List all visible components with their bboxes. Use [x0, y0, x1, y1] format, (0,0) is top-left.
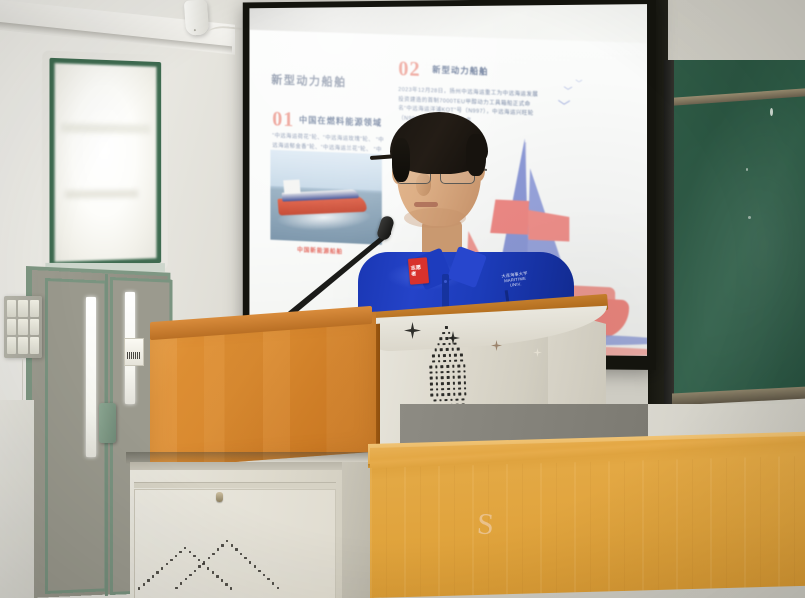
grille-hole: [464, 393, 467, 396]
cabinet-perforation: [272, 582, 274, 584]
desk-wood-grain: [370, 456, 805, 598]
slide-section-number-02: 02: [398, 56, 420, 81]
cabinet-perforation: [138, 587, 140, 589]
cabinet-perforation: [207, 567, 209, 569]
chalkboard-surface: [674, 60, 805, 396]
grille-hole: [464, 387, 467, 390]
switch-8[interactable]: [18, 337, 27, 354]
grille-hole: [449, 359, 452, 362]
cabinet-perforation: [194, 570, 196, 572]
cabinet-perforation: [170, 559, 172, 561]
cabinet-perforation: [152, 575, 154, 577]
grille-hole: [450, 399, 453, 402]
cabinet-perforation: [161, 567, 163, 569]
grille-hole: [447, 376, 450, 379]
cabinet-perforation: [147, 579, 149, 581]
grille-hole: [454, 359, 457, 362]
chalk-mark: [746, 168, 748, 171]
podium-cabinet-door[interactable]: [134, 489, 336, 598]
cabinet-perforation: [184, 547, 186, 549]
door-handle[interactable]: [99, 403, 116, 443]
switch-3[interactable]: [30, 300, 39, 317]
switch-7[interactable]: [7, 337, 16, 354]
cabinet-perforation: [180, 582, 182, 584]
left-wall-lower: [0, 400, 34, 598]
grille-hole: [441, 377, 444, 380]
cabinet-perforation: [217, 548, 219, 550]
slide-photo-caption: 中国新能源船舶: [297, 245, 343, 256]
grille-hole: [453, 393, 456, 396]
cabinet-perforation: [208, 557, 210, 559]
asset-label: [124, 338, 144, 366]
grille-hole: [464, 381, 467, 384]
speaker-person: 志愿 者 大连海事大学 MARITIME UNIV.: [366, 112, 566, 327]
grille-hole: [446, 371, 449, 374]
grille-hole: [443, 360, 446, 363]
grille-hole: [454, 342, 457, 345]
cabinet-perforation: [277, 587, 279, 589]
grille-hole: [442, 393, 445, 396]
cabinet-perforation: [221, 544, 223, 546]
cabinet-perforation: [231, 544, 233, 546]
cabinet-perforation: [166, 563, 168, 565]
cabinet-perforation: [267, 578, 269, 580]
cabinet-lock-icon[interactable]: [216, 492, 223, 502]
cabinet-perforation: [226, 540, 228, 542]
cabinet-perforation: [235, 548, 237, 550]
grille-hole: [445, 399, 448, 402]
grille-hole: [456, 398, 459, 401]
cabinet-perforation: [244, 557, 246, 559]
cabinet-perforation: [212, 553, 214, 555]
wall-speaker-icon: [184, 0, 209, 36]
slide-title: 新型动力船舶: [271, 72, 346, 90]
switch-5[interactable]: [18, 319, 27, 336]
chin-shading: [404, 208, 466, 228]
grille-hole: [458, 370, 461, 373]
cabinet-perforation: [185, 578, 187, 580]
grille-hole: [458, 382, 461, 385]
grille-hole: [460, 353, 463, 356]
grille-hole: [438, 360, 441, 363]
grille-hole: [430, 388, 433, 391]
grille-hole: [443, 354, 446, 357]
grille-hole: [440, 349, 443, 352]
grille-hole: [437, 354, 440, 357]
grille-hole: [434, 349, 437, 352]
slide-section-number-01: 01: [272, 107, 294, 132]
grille-hole: [441, 365, 444, 368]
switch-cord: [22, 358, 23, 406]
podium-cabinet-rail: [134, 482, 336, 488]
grille-hole: [452, 371, 455, 374]
cabinet-perforation: [221, 579, 223, 581]
grille-hole: [430, 377, 433, 380]
grille-hole: [432, 360, 435, 363]
grille-hole: [463, 365, 466, 368]
shirt-button: [444, 280, 447, 283]
cabinet-perforation: [179, 551, 181, 553]
chalk-mark: [748, 216, 751, 219]
grille-hole: [458, 376, 461, 379]
cabinet-perforation: [143, 583, 145, 585]
grille-hole: [457, 365, 460, 368]
grille-hole: [432, 354, 435, 357]
cabinet-perforation: [189, 574, 191, 576]
grille-hole: [460, 359, 463, 362]
grille-hole: [445, 326, 448, 329]
cabinet-perforation: [258, 570, 260, 572]
grille-hole: [430, 394, 433, 397]
switch-9[interactable]: [30, 337, 39, 354]
grille-hole: [447, 393, 450, 396]
chest-badge-text: 志愿 者: [410, 259, 427, 282]
grille-hole: [453, 387, 456, 390]
grille-hole: [449, 354, 452, 357]
seagull-icon: ﹀: [575, 79, 582, 89]
grille-hole: [461, 398, 464, 401]
grille-hole: [447, 388, 450, 391]
hair-side-right: [466, 134, 486, 176]
switch-6[interactable]: [30, 319, 39, 336]
slide-section-heading-02: 新型动力船舶: [432, 64, 488, 78]
grille-hole: [451, 348, 454, 351]
grille-hole: [445, 337, 448, 340]
grille-hole: [447, 382, 450, 385]
grille-hole: [446, 365, 449, 368]
grille-hole: [435, 371, 438, 374]
photograph-scene: 新型动力船舶 01 中国在燃料能源领域 “中远海运荷花”轮、“中远海运玫瑰”轮、…: [0, 0, 805, 598]
grille-hole: [443, 343, 446, 346]
cabinet-perforation: [203, 561, 205, 563]
door-leaf-left[interactable]: [45, 278, 107, 594]
grille-hole: [433, 399, 436, 402]
ship-superstructure: [283, 180, 300, 194]
grille-hole: [452, 376, 455, 379]
grille-hole: [429, 366, 432, 369]
grille-hole: [430, 371, 433, 374]
grille-hole: [442, 332, 445, 335]
grille-hole: [436, 388, 439, 391]
cabinet-perforation: [263, 574, 265, 576]
grille-hole: [448, 331, 451, 334]
cabinet-perforation: [193, 555, 195, 557]
light-switch-panel[interactable]: [4, 296, 42, 358]
window: [49, 58, 161, 267]
cabinet-perforation: [198, 565, 200, 567]
cabinet-perforation: [254, 565, 256, 567]
chalk-mark: [770, 108, 773, 116]
grille-hole: [437, 343, 440, 346]
grille-hole: [436, 393, 439, 396]
grille-hole: [446, 348, 449, 351]
grille-hole: [452, 365, 455, 368]
cabinet-perforation: [198, 559, 200, 561]
grille-hole: [452, 382, 455, 385]
chest-badge: 志愿 者: [408, 257, 429, 285]
door-viewport-left: [86, 297, 96, 457]
cabinet-perforation: [212, 571, 214, 573]
cabinet-perforation: [175, 555, 177, 557]
chalkboard: [664, 60, 805, 410]
grille-hole: [458, 387, 461, 390]
grille-hole: [463, 370, 466, 373]
switch-2[interactable]: [18, 300, 27, 317]
desk-mark: S: [476, 507, 500, 544]
grille-hole: [435, 366, 438, 369]
grille-hole: [440, 337, 443, 340]
cabinet-perforation: [240, 553, 242, 555]
cabinet-perforation: [230, 587, 232, 589]
window-glass: [55, 63, 157, 262]
barcode-icon: [127, 352, 141, 359]
grille-hole: [441, 388, 444, 391]
grille-hole: [441, 371, 444, 374]
grille-hole: [457, 348, 460, 351]
switch-4[interactable]: [7, 319, 16, 336]
grille-hole: [435, 377, 438, 380]
cabinet-perforation: [225, 583, 227, 585]
cabinet-perforation: [216, 575, 218, 577]
grille-hole: [436, 382, 439, 385]
grille-hole: [448, 343, 451, 346]
grille-hole: [430, 382, 433, 385]
switch-1[interactable]: [7, 300, 16, 317]
cabinet-perforation: [156, 571, 158, 573]
cabinet-perforation: [249, 561, 251, 563]
cabinet-perforation: [189, 551, 191, 553]
cabinet-perforation: [175, 587, 177, 589]
grille-hole: [458, 393, 461, 396]
grille-hole: [454, 354, 457, 357]
grille-hole: [441, 382, 444, 385]
grille-hole: [439, 399, 442, 402]
grille-hole: [463, 376, 466, 379]
mouth: [414, 202, 438, 207]
